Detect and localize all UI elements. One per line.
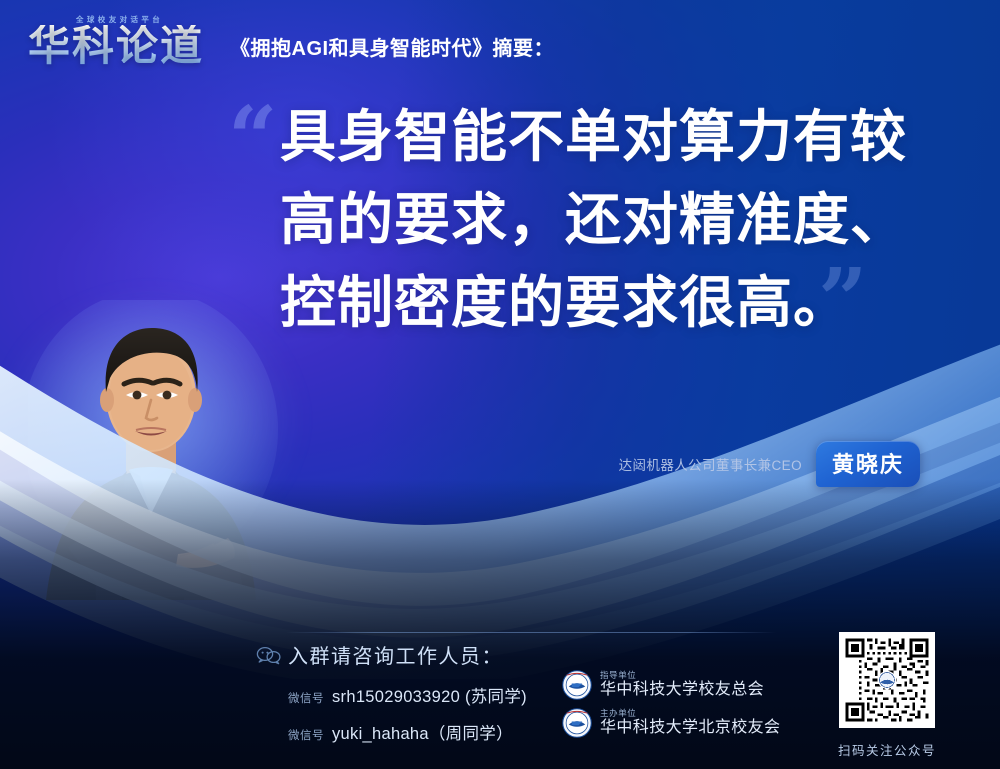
university-emblem-icon [562, 670, 592, 700]
contact-row: 微信号 srh15029033920 (苏同学) [288, 683, 527, 707]
page-title: 《拥抱AGI和具身智能时代》摘要： [230, 32, 554, 67]
logo-tagline: 全球校友对话平台 [76, 14, 163, 25]
organization-kicker: 主办单位 [600, 709, 780, 718]
organization-name: 华中科技大学校友总会 [600, 682, 764, 699]
qr-code-image[interactable] [839, 632, 935, 728]
organization-row: 指导单位 华中科技大学校友总会 [562, 670, 780, 700]
organization-texts: 主办单位 华中科技大学北京校友会 [600, 709, 780, 737]
organization-name: 华中科技大学北京校友会 [600, 720, 780, 737]
contact-label: 微信号 [288, 727, 324, 743]
speaker-role: 达闼机器人公司董事长兼CEO [619, 454, 802, 474]
footer-heading: 入群请咨询工作人员： [288, 640, 527, 669]
contact-value: srh15029033920 (苏同学) [332, 683, 527, 707]
speaker-name-badge: 黄晓庆 [816, 441, 920, 487]
organization-kicker: 指导单位 [600, 671, 764, 680]
quote-text: 具身智能不单对算力有较 高的要求，还对精准度、 控制密度的要求很高。 [280, 96, 960, 345]
quote-line: 高的要求，还对精准度、 [280, 179, 960, 262]
logo-wordmark: 华科论道 [28, 25, 214, 67]
footer-divider [286, 632, 776, 633]
quote-line: 具身智能不单对算力有较 [280, 96, 960, 179]
poster-canvas: 全球校友对话平台 华科论道 《拥抱AGI和具身智能时代》摘要： “ ” 具身智能… [0, 0, 1000, 769]
footer-contact-block: 入群请咨询工作人员： 微信号 srh15029033920 (苏同学) 微信号 … [288, 640, 527, 757]
qr-caption: 扫码关注公众号 [826, 740, 948, 759]
university-emblem-icon [562, 708, 592, 738]
brand-logo: 全球校友对话平台 华科论道 [28, 14, 214, 67]
header: 全球校友对话平台 华科论道 《拥抱AGI和具身智能时代》摘要： [28, 14, 554, 67]
contact-row: 微信号 yuki_hahaha（周同学） [288, 720, 527, 744]
quote-open-mark: “ [228, 96, 277, 182]
organizations-block: 指导单位 华中科技大学校友总会 主办单位 华中科技大学北京校友会 [562, 670, 780, 746]
qr-block: 扫码关注公众号 [826, 632, 948, 759]
organization-row: 主办单位 华中科技大学北京校友会 [562, 708, 780, 738]
contact-value: yuki_hahaha（周同学） [332, 720, 513, 744]
speaker-attribution: 达闼机器人公司董事长兼CEO 黄晓庆 [600, 441, 920, 487]
wechat-icon [256, 645, 282, 665]
quote-line: 控制密度的要求很高。 [280, 262, 960, 345]
contact-label: 微信号 [288, 690, 324, 706]
organization-texts: 指导单位 华中科技大学校友总会 [600, 671, 764, 699]
